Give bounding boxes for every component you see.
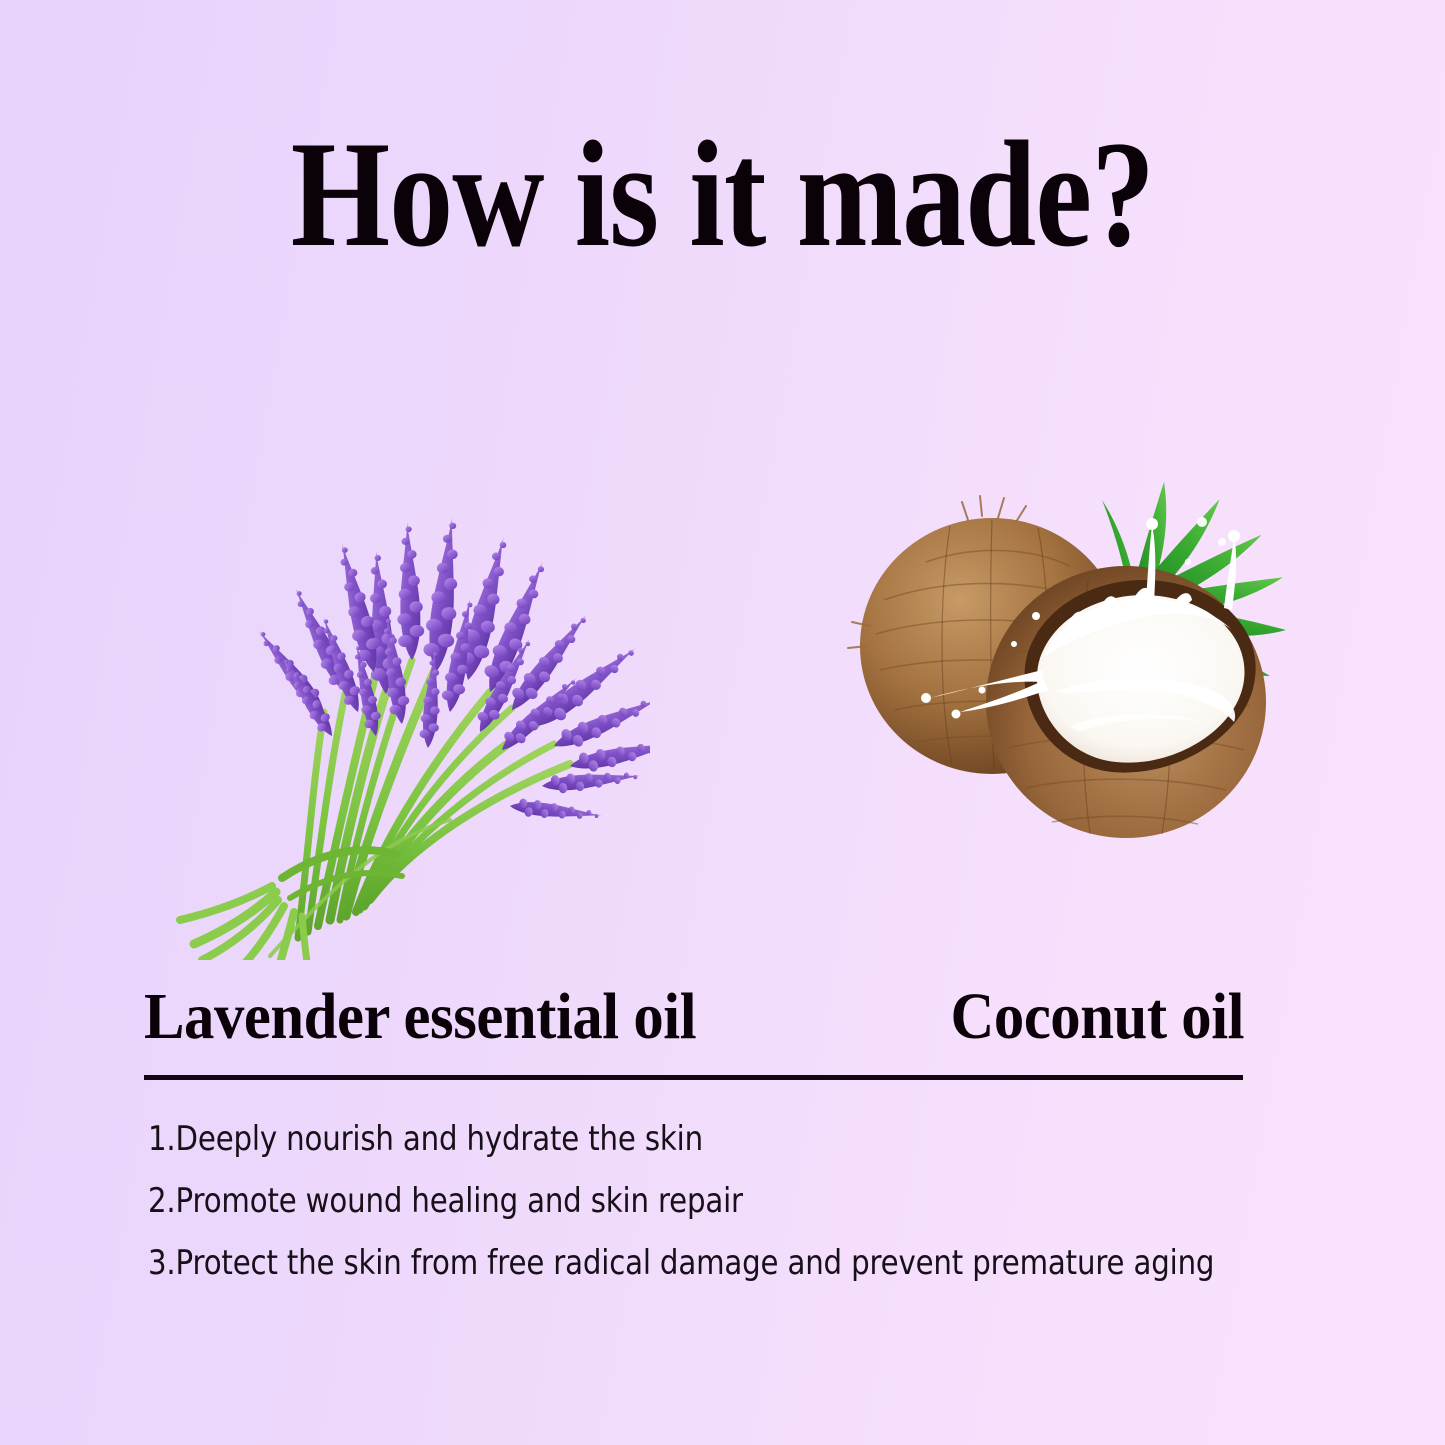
benefit-item: 2.Promote wound healing and skin repair [148,1170,1180,1232]
lavender-bouquet-photo [150,320,650,960]
ingredient-label-coconut: Coconut oil [950,984,1244,1050]
coconut-halves-photo [830,430,1330,910]
ingredient-labels: Lavender essential oil Coconut oil [144,980,1244,1050]
page-title: How is it made? [116,118,1330,270]
benefits-list: 1.Deeply nourish and hydrate the skin 2.… [148,1108,1348,1294]
section-divider [144,1075,1243,1080]
benefit-item: 1.Deeply nourish and hydrate the skin [148,1108,1180,1170]
benefit-item: 3.Protect the skin from free radical dam… [148,1232,1180,1294]
ingredient-label-lavender: Lavender essential oil [144,984,696,1050]
ingredient-images-row [0,300,1445,960]
product-infographic-poster: How is it made? [0,0,1445,1445]
